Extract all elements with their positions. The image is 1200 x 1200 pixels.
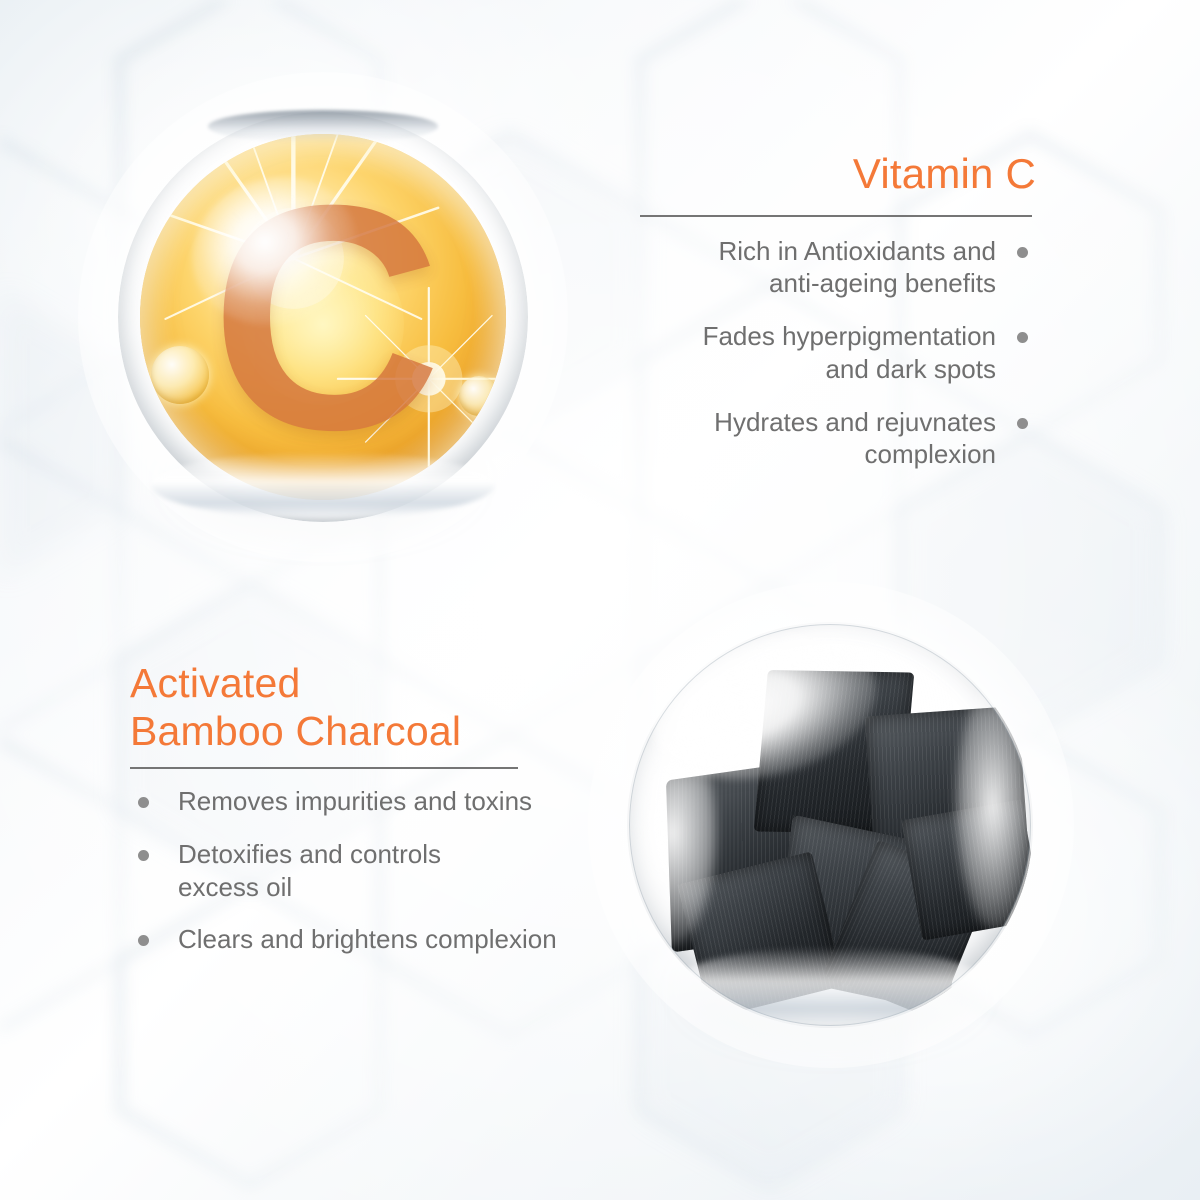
charcoal-glass-rim (627, 622, 1033, 1028)
charcoal-heading-line-1: Activated (130, 660, 650, 708)
charcoal-divider (130, 767, 518, 769)
list-item-line-2: and dark spots (640, 353, 996, 386)
list-item: Removes impurities and toxins (130, 785, 650, 818)
list-item: Hydrates and rejuvnates complexion (640, 406, 1036, 472)
vitamin-c-rim-bottom (151, 452, 495, 518)
vitamin-c-liquid-core: C (140, 134, 506, 500)
activated-charcoal-glass-sphere (627, 622, 1033, 1028)
list-item-line-2: complexion (640, 438, 996, 471)
list-item-line-1: Fades hyperpigmentation (640, 320, 996, 353)
bullet-dot-icon (138, 797, 149, 808)
list-item: Detoxifies and controls excess oil (130, 838, 650, 904)
list-item: Fades hyperpigmentation and dark spots (640, 320, 1036, 386)
infographic-canvas: C (0, 0, 1200, 1200)
list-item: Clears and brightens complexion (130, 923, 650, 956)
vitamin-c-heading: Vitamin C (640, 150, 1036, 199)
bullet-dot-icon (1017, 332, 1028, 343)
charcoal-heading: Activated Bamboo Charcoal (130, 660, 650, 755)
list-item: Rich in Antioxidants and anti-ageing ben… (640, 235, 1036, 301)
vitamin-c-panel: Vitamin C Rich in Antioxidants and anti-… (640, 150, 1036, 491)
list-item-line-2: anti-ageing benefits (640, 267, 996, 300)
bubble-left-icon (151, 346, 209, 404)
list-item-line-1: Clears and brightens complexion (178, 923, 650, 956)
bullet-dot-icon (138, 935, 149, 946)
list-item-line-1: Rich in Antioxidants and (640, 235, 996, 268)
list-item-line-2: excess oil (178, 871, 650, 904)
bubble-right-icon (459, 376, 499, 416)
charcoal-panel: Activated Bamboo Charcoal Removes impuri… (130, 660, 650, 976)
vitamin-c-golden-droplet: C (118, 112, 528, 522)
list-item-line-1: Hydrates and rejuvnates (640, 406, 996, 439)
charcoal-heading-line-2: Bamboo Charcoal (130, 708, 650, 756)
bullet-dot-icon (1017, 247, 1028, 258)
vitamin-c-divider (640, 215, 1032, 217)
vitamin-c-rim-top (208, 110, 438, 143)
charcoal-benefit-list: Removes impurities and toxins Detoxifies… (130, 785, 650, 956)
list-item-line-1: Removes impurities and toxins (178, 785, 650, 818)
vitamin-c-benefit-list: Rich in Antioxidants and anti-ageing ben… (640, 235, 1036, 472)
bullet-dot-icon (138, 850, 149, 861)
bullet-dot-icon (1017, 418, 1028, 429)
list-item-line-1: Detoxifies and controls (178, 838, 650, 871)
